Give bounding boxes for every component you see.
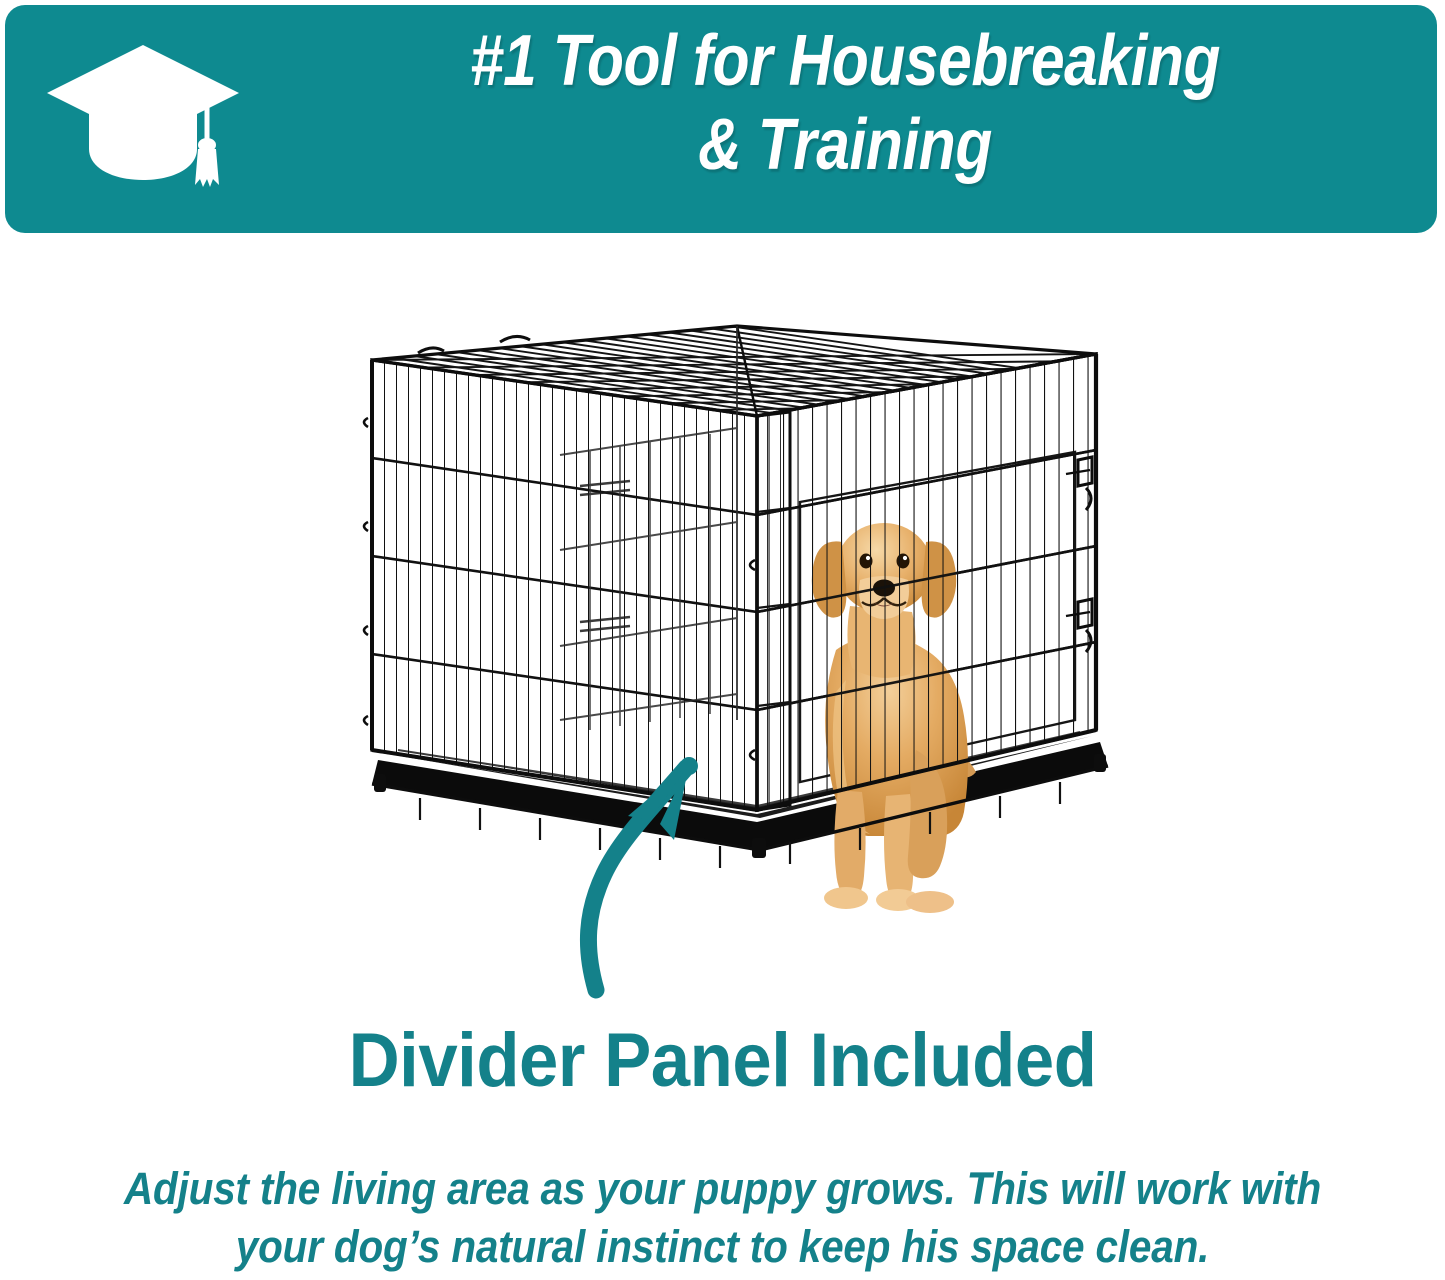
wire-crate-illustration [0, 250, 1445, 990]
header-headline: #1 Tool for Housebreaking & Training [285, 19, 1405, 187]
product-photo-dog-crate [0, 250, 1445, 990]
feature-caption-line1: Adjust the living area as your puppy gro… [122, 1160, 1324, 1218]
header-headline-line1: #1 Tool for Housebreaking [375, 19, 1316, 103]
feature-heading: Divider Panel Included [51, 1018, 1395, 1104]
feature-caption: Adjust the living area as your puppy gro… [122, 1160, 1324, 1276]
header-banner: #1 Tool for Housebreaking & Training [5, 5, 1437, 233]
graduation-cap-icon [43, 37, 263, 197]
feature-caption-line2: your dog’s natural instinct to keep his … [122, 1218, 1324, 1276]
header-headline-line2: & Training [375, 103, 1316, 187]
